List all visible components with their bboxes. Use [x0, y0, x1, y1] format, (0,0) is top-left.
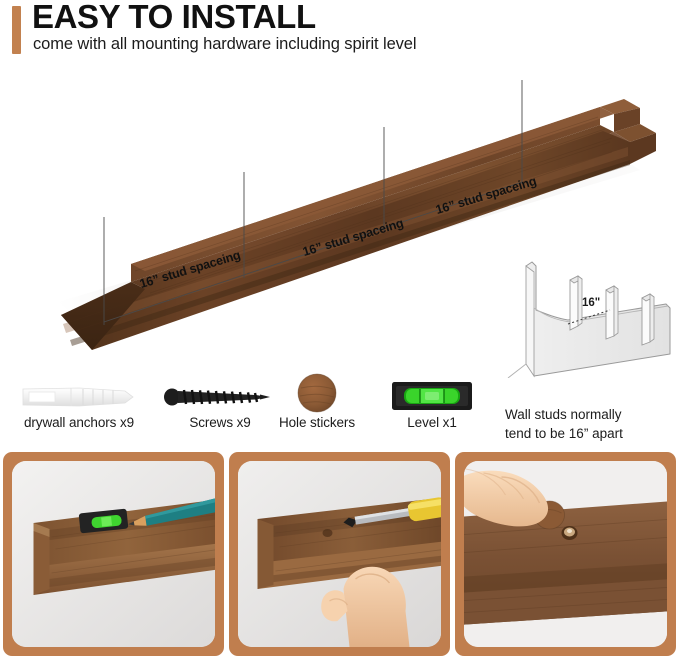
accent-bar — [12, 6, 21, 54]
infographic-page: EASY TO INSTALL come with all mounting h… — [0, 0, 679, 658]
page-subtitle: come with all mounting hardware includin… — [33, 33, 416, 55]
stud-2 — [606, 286, 614, 339]
photo-panel-3 — [455, 452, 676, 656]
photo-panels — [3, 452, 676, 656]
accessory-label: Level x1 — [372, 414, 492, 432]
spirit-level-icon — [372, 370, 492, 414]
header: EASY TO INSTALL come with all mounting h… — [0, 0, 679, 72]
stud-dimension-label: 16" — [582, 297, 600, 309]
hole-sticker-icon — [262, 370, 372, 414]
accessory-label: Hole stickers — [262, 414, 372, 432]
panel-2-image — [238, 461, 441, 647]
accessories-row: drywall anchors x9 Screws x9 — [0, 370, 679, 448]
photo-panel-2 — [229, 452, 450, 656]
accessory-level: Level x1 — [372, 370, 492, 432]
accessory-drywall-anchors: drywall anchors x9 — [4, 370, 154, 432]
panel-1-image — [12, 461, 215, 647]
drywall-anchor-icon — [4, 370, 154, 414]
photo-panel-1 — [3, 452, 224, 656]
drywall-edge — [526, 266, 534, 376]
stud-3 — [642, 294, 650, 345]
panel-3-image — [464, 461, 667, 647]
page-title: EASY TO INSTALL — [32, 0, 316, 36]
wall-stud-diagram: 16" — [498, 248, 679, 378]
accessory-hole-stickers: Hole stickers — [262, 370, 372, 432]
